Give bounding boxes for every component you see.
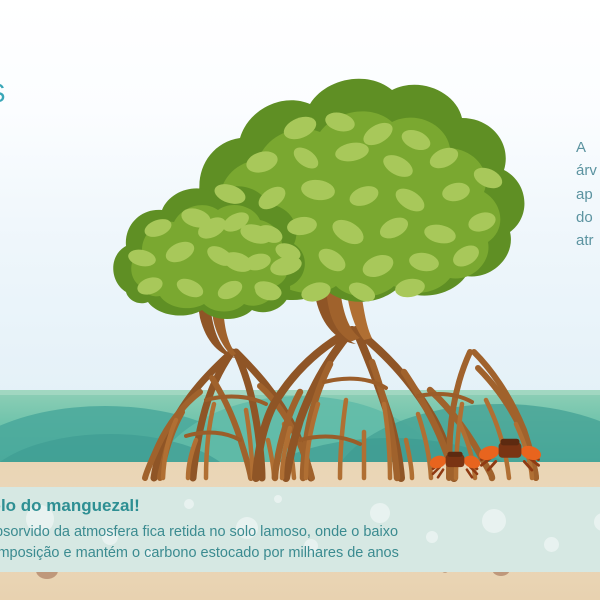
right-column-line: ap [576,183,600,206]
page-subtitle: UEZAIS [0,77,204,111]
infographic-canvas: AZUL UEZAIS osas: dióxido (CO₂) ra A árv… [0,0,600,600]
left-text-column: osas: dióxido (CO₂) ra [0,218,138,321]
banner-line: decomposição e mantém o carbono estocado… [0,543,600,564]
page-title: AZUL [0,38,204,73]
left-column-line: dióxido [0,254,138,277]
right-column-line: atr [576,229,600,252]
left-column-body: dióxido (CO₂) ra [0,254,138,322]
left-column-line: (CO₂) [0,276,138,299]
banner-line: O₂ absorvido da atmosfera fica retida no… [0,522,600,543]
left-column-line: ra [0,299,138,322]
banner-body: O₂ absorvido da atmosfera fica retida no… [0,522,600,564]
right-column-line: árv [576,159,600,182]
mangrove-prop-roots [145,330,536,478]
right-column-line: do [576,206,600,229]
bottom-banner: o solo do manguezal! O₂ absorvido da atm… [0,487,600,572]
left-column-lead: osas: [0,218,138,240]
title-block: AZUL UEZAIS [0,38,204,110]
banner-headline: o solo do manguezal! [0,495,600,517]
banner-content: o solo do manguezal! O₂ absorvido da atm… [0,487,600,572]
right-column-line: A [576,136,600,159]
right-text-column: A árv ap do atr [576,136,600,252]
